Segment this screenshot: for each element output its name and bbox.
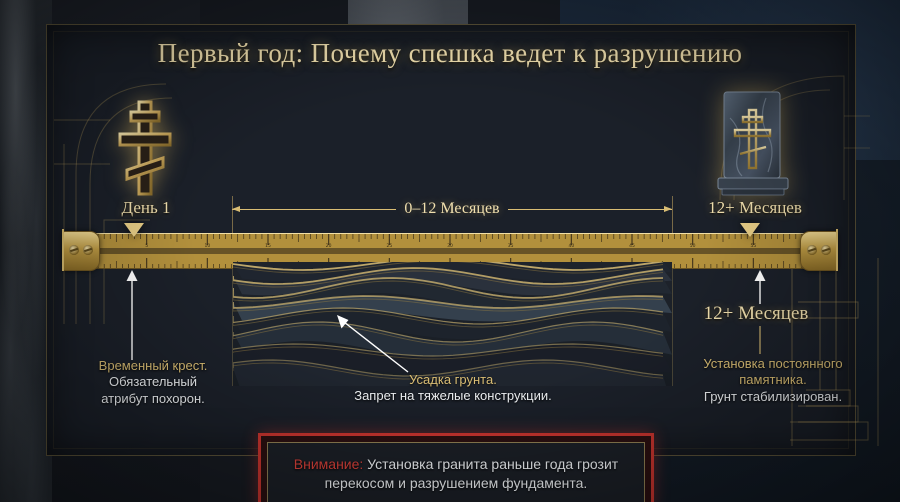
infographic-root: Первый год: Почему спешка ведет к разруш… — [0, 0, 900, 502]
vignette-overlay — [0, 0, 900, 502]
